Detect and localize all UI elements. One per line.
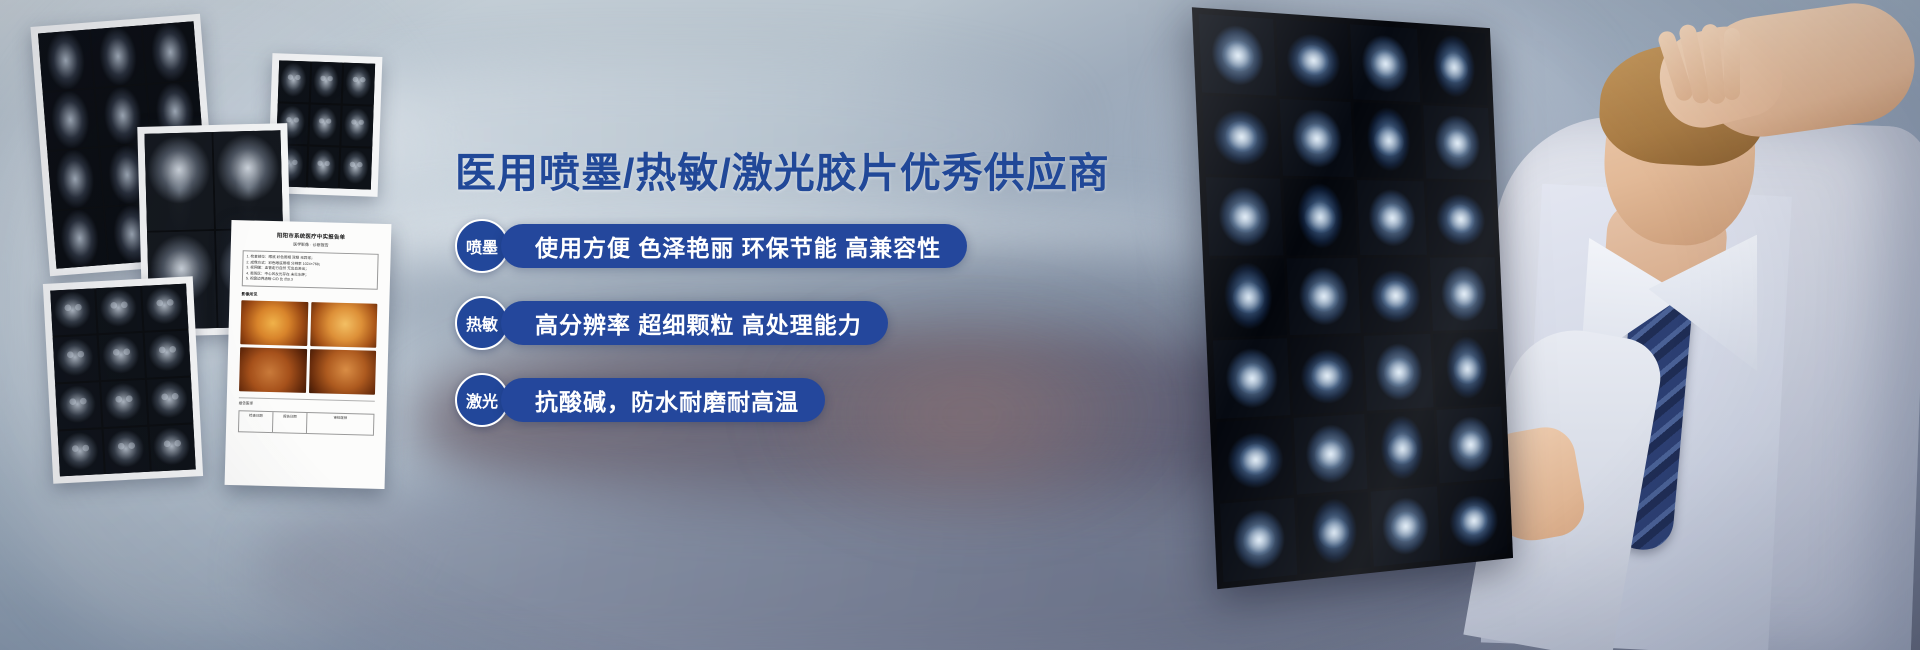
- fundus-image: [310, 302, 378, 348]
- medical-report-sheet: 阳阳市系统医疗中实报告单 医学影像 · 诊断报告 1. 检查部位：眼底 彩色照相…: [225, 220, 392, 489]
- fundus-image: [239, 347, 307, 393]
- report-table-header: 检查日期: [239, 412, 274, 433]
- fundus-image: [308, 349, 376, 395]
- brain-mri-grid-film: [43, 276, 203, 484]
- page-title: 医用喷墨/热敏/激光胶片优秀供应商: [455, 150, 1095, 197]
- film-collage: 阳阳市系统医疗中实报告单 医学影像 · 诊断报告 1. 检查部位：眼底 彩色照相…: [0, 0, 420, 520]
- feature-pill-thermal: 高分辨率 超细颗粒 高处理能力: [501, 301, 888, 345]
- report-footer: 报告医师: [239, 397, 375, 410]
- feature-pill-inkjet: 使用方便 色泽艳丽 环保节能 高兼容性: [501, 224, 967, 268]
- fundus-image: [240, 300, 308, 346]
- doctor-photo: [1060, 0, 1920, 650]
- report-subtitle: 医学影像 · 诊断报告: [243, 240, 379, 250]
- report-table: 检查日期 报告日期 审核医师: [238, 411, 375, 437]
- report-table-header: 审核医师: [307, 413, 374, 435]
- feature-row-laser[interactable]: 激光 抗酸碱，防水耐磨耐高温: [455, 373, 1095, 427]
- feature-pill-laser: 抗酸碱，防水耐磨耐高温: [501, 378, 825, 422]
- finger: [1724, 28, 1740, 100]
- report-footer-label: 报告医师: [239, 401, 375, 410]
- report-table-header: 报告日期: [273, 412, 308, 433]
- feature-list: 喷墨 使用方便 色泽艳丽 环保节能 高兼容性 热敏 高分辨率 超细颗粒 高处理能…: [455, 219, 1095, 427]
- hero-banner: 阳阳市系统医疗中实报告单 医学影像 · 诊断报告 1. 检查部位：眼底 彩色照相…: [0, 0, 1920, 650]
- report-section-label: 影像所见: [241, 291, 377, 301]
- report-findings-box: 1. 检查部位：眼底 彩色照相 双眼 无异常； 2. 成像方式：彩色眼底照相 分…: [242, 250, 379, 289]
- brain-mri-sheet: [1192, 7, 1513, 589]
- report-image-grid: [239, 300, 377, 395]
- banner-content: 医用喷墨/热敏/激光胶片优秀供应商 喷墨 使用方便 色泽艳丽 环保节能 高兼容性…: [455, 150, 1095, 450]
- feature-row-inkjet[interactable]: 喷墨 使用方便 色泽艳丽 环保节能 高兼容性: [455, 219, 1095, 273]
- feature-row-thermal[interactable]: 热敏 高分辨率 超细颗粒 高处理能力: [455, 296, 1095, 350]
